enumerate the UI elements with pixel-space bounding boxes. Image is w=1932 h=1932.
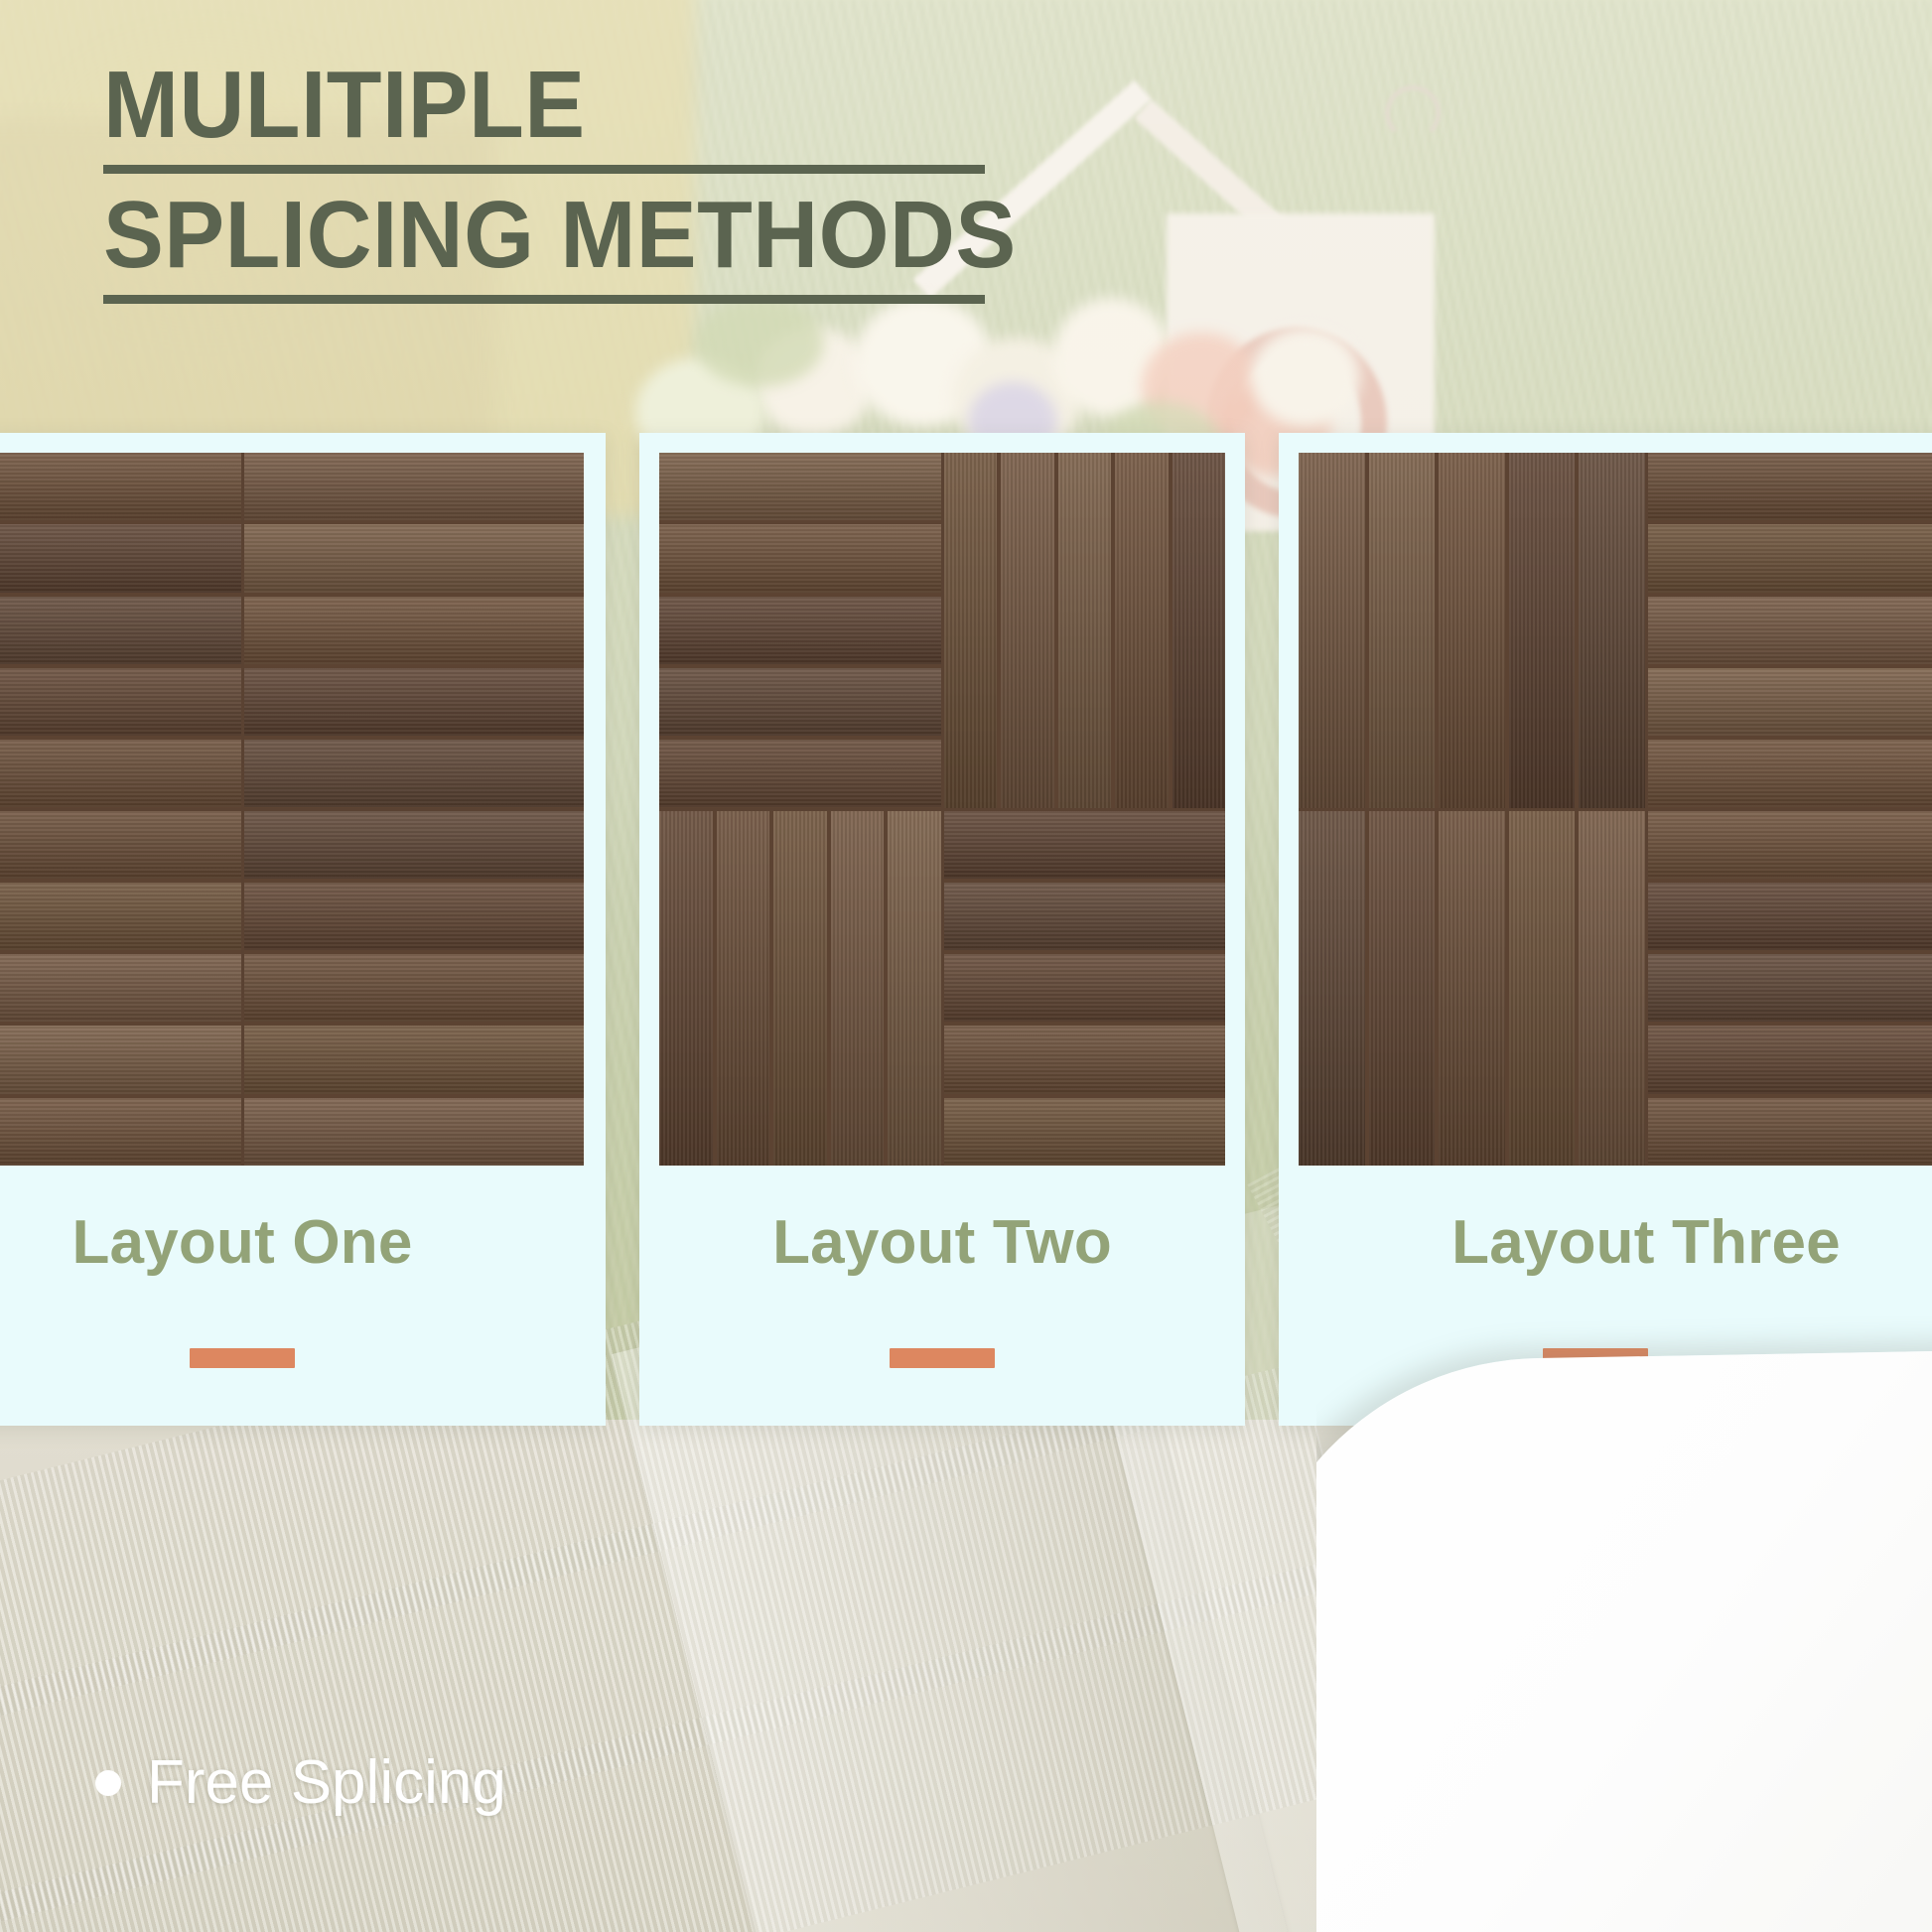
wood-tile-v xyxy=(944,453,1226,808)
layout-three-photo xyxy=(1299,453,1932,1166)
layout-three-tile-grid xyxy=(1299,453,1932,1166)
wood-slat xyxy=(1648,1098,1932,1166)
wood-slat xyxy=(244,597,585,664)
wood-slat xyxy=(1648,811,1932,879)
wood-slat xyxy=(1579,453,1645,808)
wood-slat xyxy=(1648,524,1932,592)
wood-slat xyxy=(244,453,585,520)
wood-slat xyxy=(0,954,241,1022)
wood-tile-v xyxy=(1299,453,1645,808)
wood-slat xyxy=(244,954,585,1022)
wood-slat xyxy=(659,740,941,807)
layout-two-tile-grid xyxy=(659,453,1225,1166)
bullet-dot-icon xyxy=(95,1770,121,1796)
wood-slat xyxy=(1648,453,1932,520)
wood-slat xyxy=(1648,740,1932,807)
wood-slat xyxy=(659,597,941,664)
wood-slat xyxy=(0,811,241,879)
wood-slat xyxy=(1369,453,1436,808)
wood-slat xyxy=(0,668,241,736)
page-title: MULITIPLE SPLICING METHODS xyxy=(103,58,1156,318)
wood-slat xyxy=(244,1098,585,1166)
wood-tile-h xyxy=(0,811,241,1167)
wood-slat xyxy=(244,883,585,950)
wood-slat xyxy=(659,524,941,592)
layout-card-three[interactable]: Layout Three xyxy=(1279,433,1932,1426)
feature-label: Free Splicing xyxy=(147,1747,506,1818)
wood-slat xyxy=(1439,453,1505,808)
wood-slat xyxy=(717,811,770,1167)
wood-slat xyxy=(659,453,941,520)
wood-slat xyxy=(0,453,241,520)
feature-bullet-free-splicing: Free Splicing xyxy=(95,1747,506,1818)
wood-slat xyxy=(1648,883,1932,950)
layout-one-tile-grid xyxy=(0,453,584,1166)
wood-tile-h xyxy=(244,453,585,808)
wood-slat xyxy=(1299,811,1365,1167)
wood-tile-h xyxy=(1648,453,1932,808)
title-line-2: SPLICING METHODS xyxy=(103,188,1103,283)
wood-tile-h xyxy=(944,811,1226,1167)
wood-slat xyxy=(773,811,827,1167)
wood-slat xyxy=(659,668,941,736)
layout-cards-row: Layout One Layout Two Layout Three xyxy=(0,433,1932,1426)
wood-slat xyxy=(888,811,941,1167)
wood-slat xyxy=(1509,453,1576,808)
layout-two-caption: Layout Two xyxy=(639,1207,1245,1278)
wood-slat xyxy=(0,597,241,664)
wood-slat xyxy=(1648,954,1932,1022)
wood-slat xyxy=(244,1026,585,1093)
wood-slat xyxy=(244,524,585,592)
wood-slat xyxy=(1509,811,1576,1167)
layout-one-caption: Layout One xyxy=(0,1207,606,1278)
wood-slat xyxy=(0,883,241,950)
wood-slat xyxy=(944,811,1226,879)
wood-slat xyxy=(0,1098,241,1166)
layout-two-accent-dash xyxy=(890,1348,995,1368)
wood-slat xyxy=(1648,597,1932,664)
wood-slat xyxy=(1173,453,1226,808)
wood-slat xyxy=(1115,453,1169,808)
wood-tile-h xyxy=(0,453,241,808)
wood-tile-v xyxy=(659,811,941,1167)
wood-slat xyxy=(1001,453,1054,808)
wood-slat xyxy=(944,883,1226,950)
wood-slat xyxy=(1439,811,1505,1167)
wood-slat xyxy=(0,740,241,807)
wood-slat xyxy=(944,453,998,808)
wood-slat xyxy=(1299,453,1365,808)
wood-slat xyxy=(1369,811,1436,1167)
wood-slat xyxy=(659,811,713,1167)
wood-slat xyxy=(831,811,885,1167)
title-underline-2 xyxy=(103,295,985,304)
wood-slat xyxy=(944,1098,1226,1166)
wood-slat xyxy=(944,1026,1226,1093)
wood-slat xyxy=(1648,1026,1932,1093)
layout-one-photo xyxy=(0,453,584,1166)
title-underline-1 xyxy=(103,165,985,174)
wood-slat xyxy=(0,524,241,592)
layout-card-two[interactable]: Layout Two xyxy=(639,433,1245,1426)
wood-slat xyxy=(944,954,1226,1022)
wood-slat xyxy=(244,668,585,736)
layout-card-one[interactable]: Layout One xyxy=(0,433,606,1426)
wood-tile-h xyxy=(244,811,585,1167)
layout-one-accent-dash xyxy=(190,1348,295,1368)
wood-tile-v xyxy=(1299,811,1645,1167)
wood-slat xyxy=(244,811,585,879)
title-line-1: MULITIPLE xyxy=(103,58,1103,153)
layout-three-accent-dash xyxy=(1543,1348,1648,1368)
layout-two-photo xyxy=(659,453,1225,1166)
wood-slat xyxy=(0,1026,241,1093)
wood-slat xyxy=(1648,668,1932,736)
wood-tile-h xyxy=(659,453,941,808)
wood-slat xyxy=(244,740,585,807)
wood-slat xyxy=(1579,811,1645,1167)
wood-slat xyxy=(1058,453,1112,808)
wood-tile-h xyxy=(1648,811,1932,1167)
layout-three-caption: Layout Three xyxy=(1279,1207,1932,1278)
